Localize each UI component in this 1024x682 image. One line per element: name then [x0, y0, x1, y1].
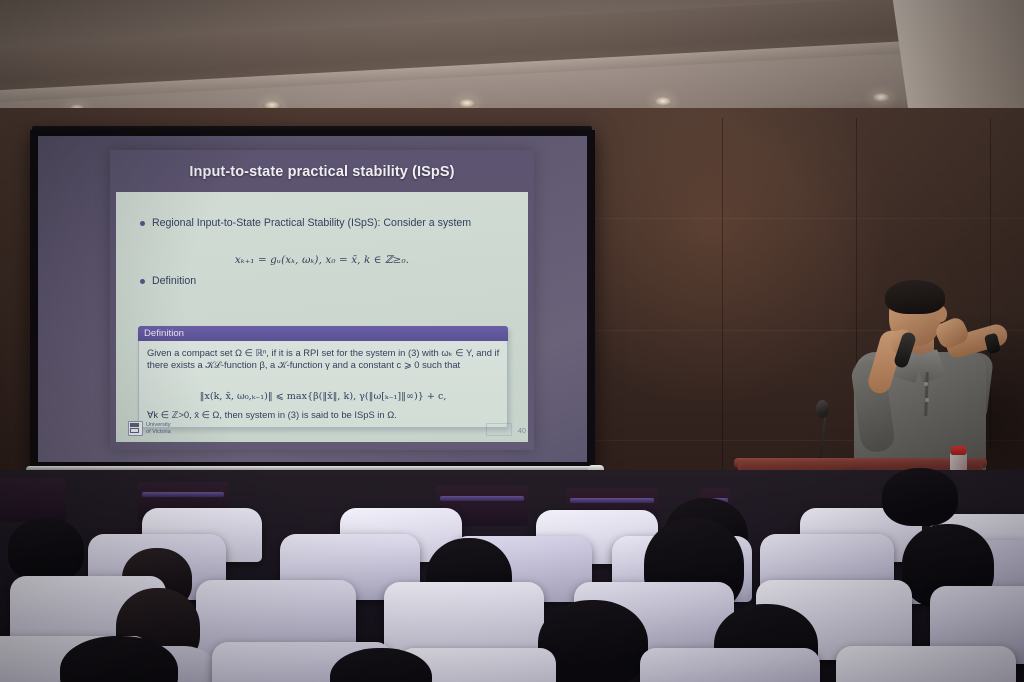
definition-box: Definition Given a compact set Ω ∈ ℝⁿ, i… [138, 326, 508, 428]
downlight-icon [458, 99, 476, 108]
seat-cover [836, 646, 1016, 682]
downlight-icon [654, 97, 672, 106]
gooseneck-microphone-icon[interactable] [816, 400, 829, 418]
slide-equation-main: xₖ₊₁ = gᵤ(xₖ, ωₖ), x₀ = x̄, k ∈ ℤ≥₀. [116, 254, 528, 266]
slide-bullet-2-label: Definition [152, 274, 196, 288]
university-name-line1: University [146, 422, 171, 428]
slide-nav-icons[interactable] [486, 423, 512, 436]
slide-footer: University of Victoria 40 [122, 418, 534, 438]
audience-head [8, 518, 84, 582]
chair-highlight [570, 498, 654, 503]
lecture-hall-photo: Input-to-state practical stability (ISpS… [0, 0, 1024, 682]
bullet-dot-icon [140, 221, 145, 226]
chair-highlight [142, 492, 224, 497]
speaker-shirt-button [925, 398, 929, 402]
slide-body: Regional Input-to-State Practical Stabil… [116, 192, 528, 442]
university-name-line2: of Victoria [146, 429, 171, 435]
water-bottle-cap [951, 446, 966, 455]
seat-cover [640, 648, 820, 682]
speaker-shirt-button [924, 382, 928, 386]
projection-screen[interactable]: Input-to-state practical stability (ISpS… [30, 130, 595, 470]
wall-seam [590, 218, 1024, 219]
audience-head [882, 468, 958, 526]
university-logo-text: University of Victoria [146, 422, 171, 434]
definition-box-text: Given a compact set Ω ∈ ℝⁿ, if it is a R… [147, 347, 501, 372]
slide-title: Input-to-state practical stability (ISpS… [110, 154, 534, 190]
chair-frame [0, 478, 66, 522]
shield-icon [128, 421, 143, 436]
slide-bullet-2: Definition [140, 274, 488, 288]
wall-warm-light [590, 108, 890, 408]
bullet-dot-icon [140, 279, 145, 284]
wall-seam [722, 118, 723, 518]
presentation-slide: Input-to-state practical stability (ISpS… [110, 150, 534, 450]
chair-highlight [440, 496, 524, 501]
downlight-icon [872, 93, 890, 102]
slide-bullet-1-label: Regional Input-to-State Practical Stabil… [152, 216, 471, 230]
screen-canvas: Input-to-state practical stability (ISpS… [38, 136, 587, 462]
university-logo: University of Victoria [128, 421, 171, 436]
definition-box-equation: ‖x(k, x̄, ω₀,ₖ₋₁)‖ ⩽ max{β(‖x̄‖, k), γ(‖… [139, 391, 507, 402]
definition-box-header: Definition [138, 326, 508, 341]
slide-bullet-1: Regional Input-to-State Practical Stabil… [140, 216, 488, 230]
speaker-hair [885, 280, 945, 314]
slide-page-number: 40 [518, 426, 526, 435]
